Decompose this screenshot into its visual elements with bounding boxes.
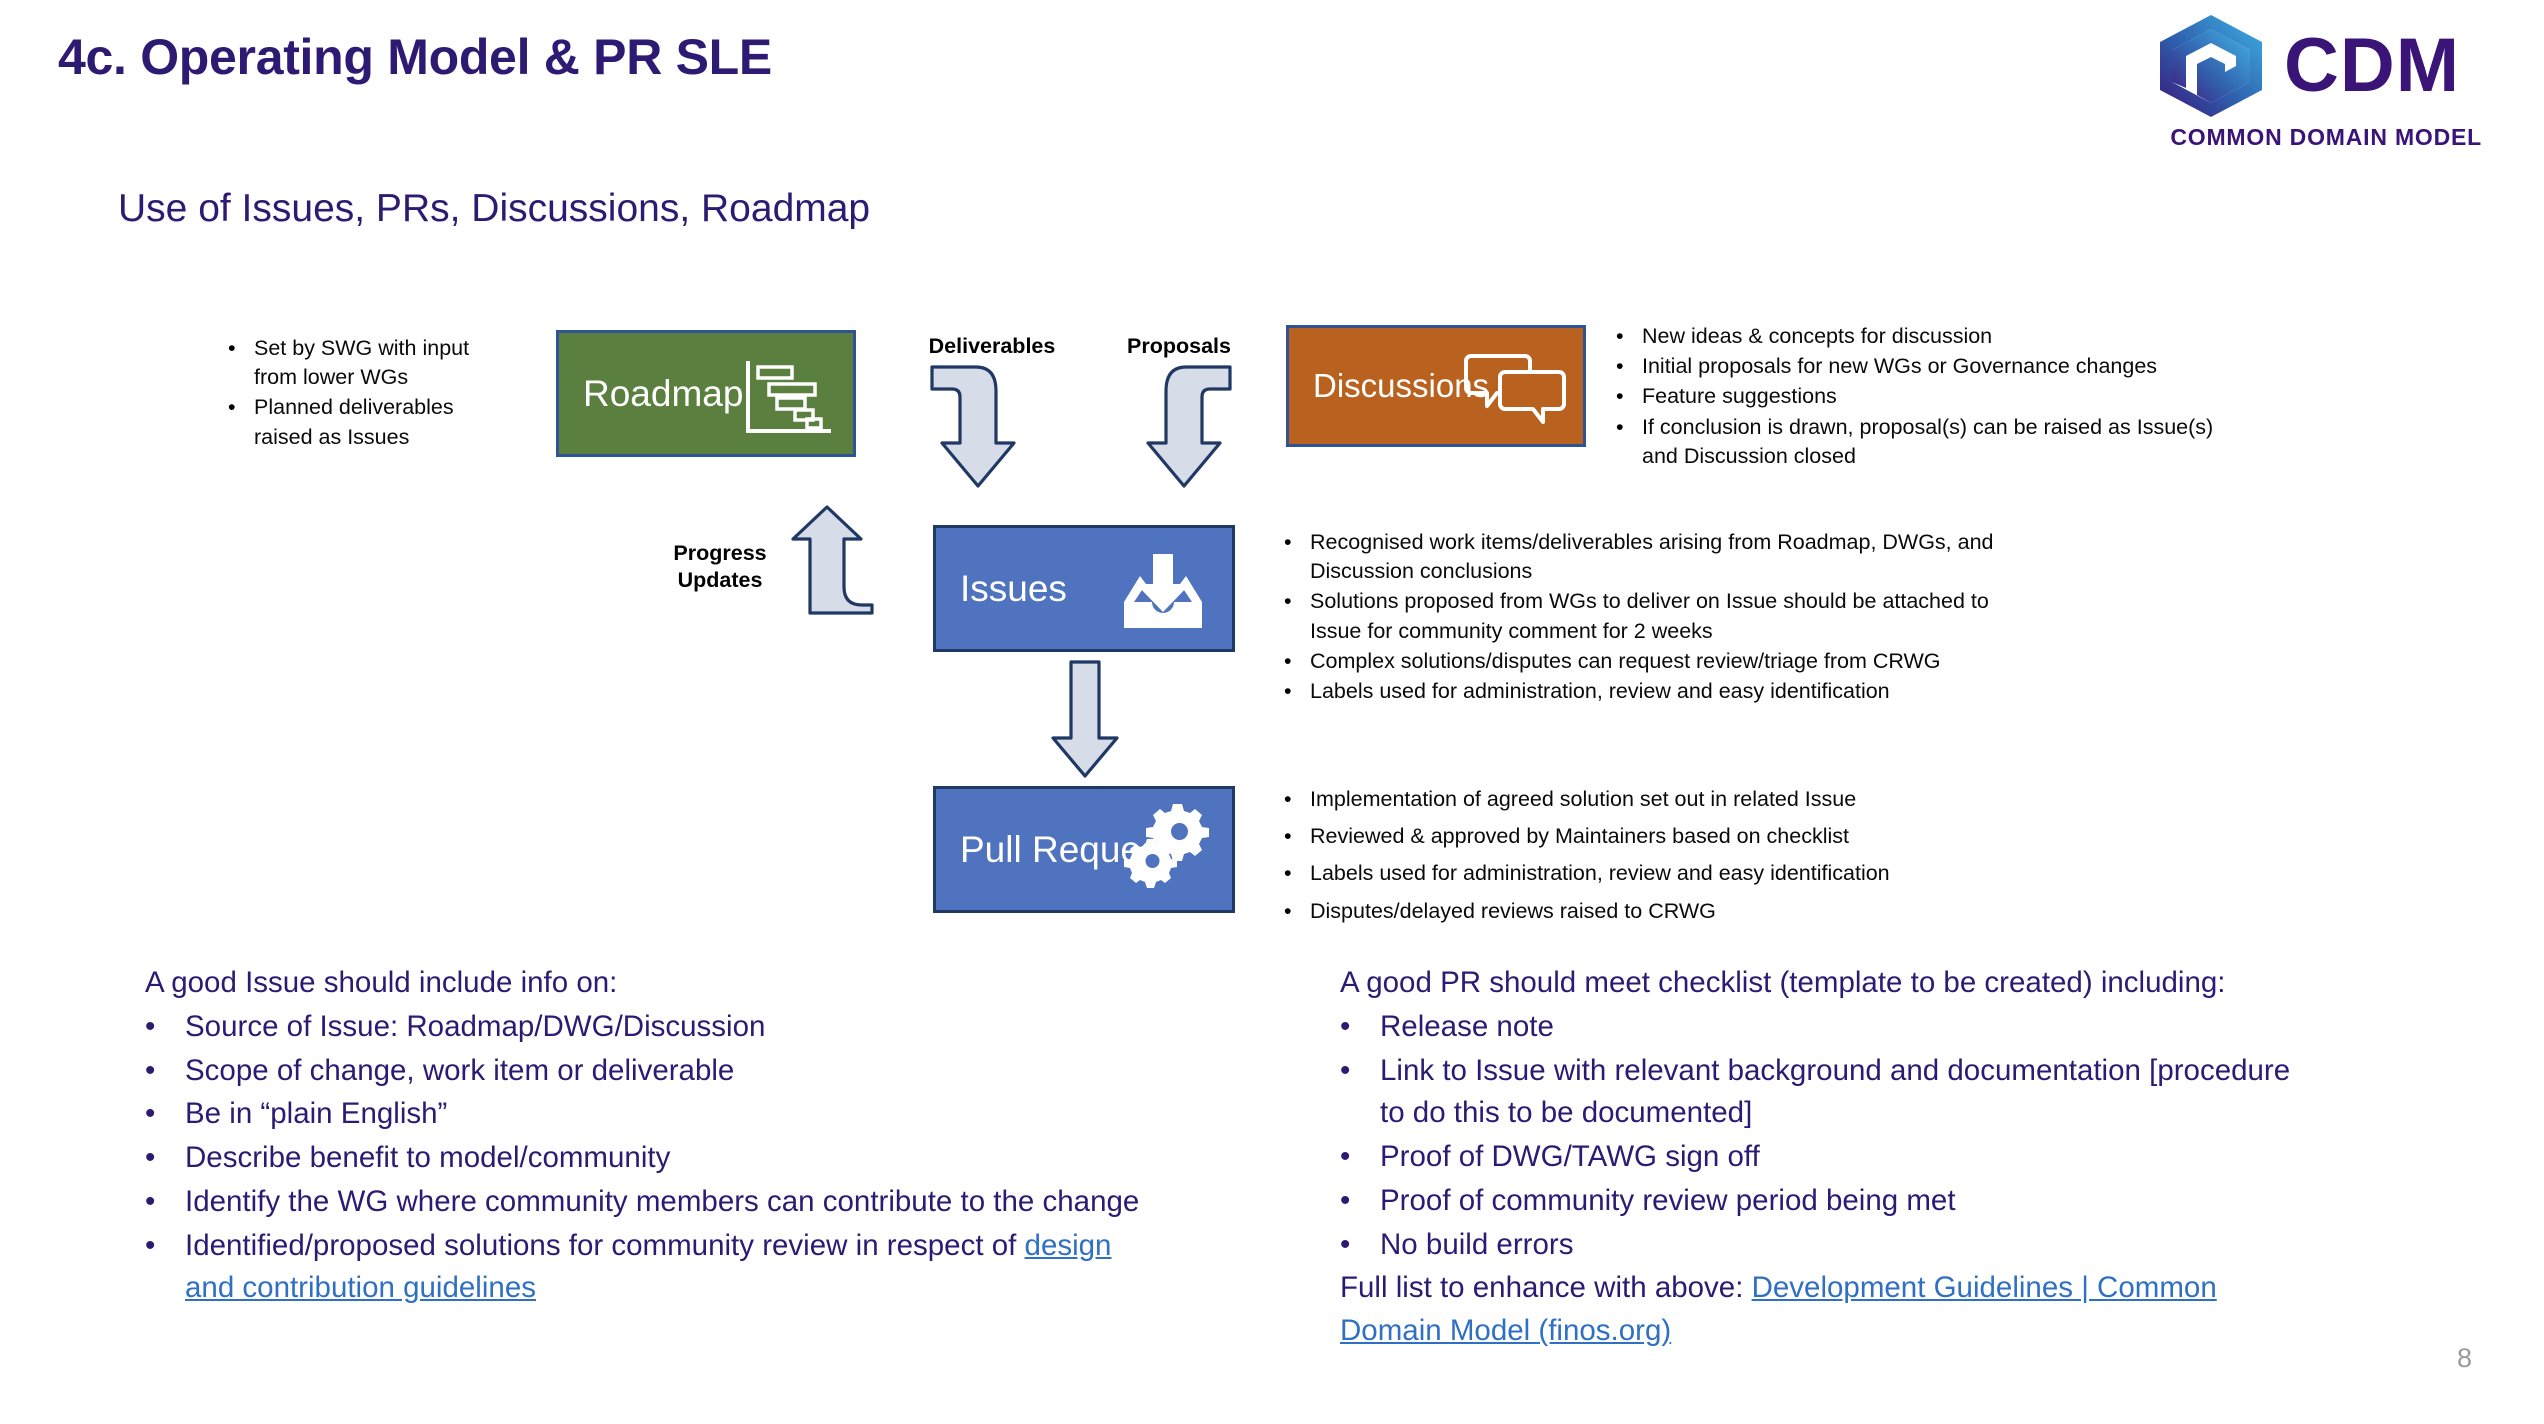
- good-pr-footer-text: Full list to enhance with above:: [1340, 1271, 1752, 1304]
- proposals-arrow-icon: [1134, 365, 1234, 490]
- progress-updates-line1: Progress: [673, 541, 766, 565]
- bullet-dot: •: [1284, 528, 1310, 557]
- bullet-dot: •: [1284, 822, 1310, 851]
- list-item: •Solutions proposed from WGs to deliver …: [1284, 587, 2004, 645]
- discussions-bullets: •New ideas & concepts for discussion •In…: [1616, 322, 2236, 472]
- bullet-dot: •: [145, 1137, 185, 1180]
- bullet-dot: •: [228, 393, 254, 422]
- list-item: •Release note: [1340, 1006, 2300, 1049]
- cdm-tagline: COMMON DOMAIN MODEL: [2152, 124, 2482, 151]
- list-item: •Labels used for administration, review …: [1284, 677, 2004, 706]
- bullet-dot: •: [1340, 1006, 1380, 1049]
- proposals-label: Proposals: [1124, 333, 1234, 360]
- roadmap-box[interactable]: Roadmap: [556, 330, 856, 457]
- list-item: •Be in “plain English”: [145, 1093, 1155, 1136]
- list-item: •Source of Issue: Roadmap/DWG/Discussion: [145, 1006, 1155, 1049]
- list-item: •New ideas & concepts for discussion: [1616, 322, 2236, 351]
- list-item: •Disputes/delayed reviews raised to CRWG: [1284, 897, 2004, 926]
- bullet-dot: •: [1340, 1050, 1380, 1093]
- bullet-dot: •: [1284, 785, 1310, 814]
- page-number: 8: [2457, 1343, 2472, 1374]
- list-item: •Complex solutions/disputes can request …: [1284, 647, 2004, 676]
- progress-updates-line2: Updates: [678, 568, 763, 592]
- bullet-dot: •: [1340, 1224, 1380, 1267]
- cdm-hexagon-logo-icon: [2152, 12, 2270, 120]
- gantt-chart-icon: [743, 359, 835, 439]
- deliverables-label: Deliverables: [927, 333, 1057, 360]
- roadmap-label: Roadmap: [559, 373, 743, 415]
- cdm-wordmark: CDM: [2284, 28, 2460, 104]
- issues-bullets: •Recognised work items/deliverables aris…: [1284, 528, 2004, 707]
- list-item: •Labels used for administration, review …: [1284, 859, 2004, 888]
- list-item: •Initial proposals for new WGs or Govern…: [1616, 352, 2236, 381]
- bullet-dot: •: [1284, 677, 1310, 706]
- good-issue-last-text: Identified/proposed solutions for commun…: [185, 1229, 1025, 1262]
- list-item: •Link to Issue with relevant background …: [1340, 1050, 2300, 1136]
- list-item: •Implementation of agreed solution set o…: [1284, 785, 2004, 814]
- list-item: •Reviewed & approved by Maintainers base…: [1284, 822, 2004, 851]
- list-item: •Planned deliverables raised as Issues: [228, 393, 518, 451]
- issues-label: Issues: [936, 568, 1067, 610]
- list-item: •No build errors: [1340, 1224, 2300, 1267]
- list-item: •Feature suggestions: [1616, 382, 2236, 411]
- list-item: •Identified/proposed solutions for commu…: [145, 1225, 1155, 1311]
- deliverables-arrow-icon: [930, 365, 1030, 490]
- roadmap-bullets: •Set by SWG with input from lower WGs •P…: [228, 334, 518, 453]
- progress-updates-arrow-icon: [775, 505, 885, 615]
- issues-to-pr-arrow-icon: [1045, 660, 1125, 780]
- bullet-dot: •: [145, 1093, 185, 1136]
- list-item: •If conclusion is drawn, proposal(s) can…: [1616, 413, 2236, 471]
- bullet-dot: •: [228, 334, 254, 363]
- bullet-dot: •: [1616, 352, 1642, 381]
- pull-request-box[interactable]: Pull Request: [933, 786, 1235, 913]
- list-item: •Set by SWG with input from lower WGs: [228, 334, 518, 392]
- discussions-label: Discussions: [1289, 367, 1489, 405]
- good-issue-block: A good Issue should include info on: •So…: [145, 962, 1155, 1311]
- slide-canvas: 4c. Operating Model & PR SLE CDM: [0, 0, 2544, 1424]
- good-pr-lead: A good PR should meet checklist (templat…: [1340, 962, 2300, 1005]
- cdm-logo: CDM COMMON DOMAIN MODEL: [2152, 10, 2482, 175]
- good-pr-block: A good PR should meet checklist (templat…: [1340, 962, 2300, 1353]
- list-item: •Proof of DWG/TAWG sign off: [1340, 1136, 2300, 1179]
- bullet-dot: •: [145, 1181, 185, 1224]
- bullet-dot: •: [1284, 587, 1310, 616]
- slide-subtitle: Use of Issues, PRs, Discussions, Roadmap: [118, 187, 870, 231]
- gears-icon: [1126, 809, 1214, 899]
- bullet-dot: •: [1340, 1136, 1380, 1179]
- bullet-dot: •: [1284, 647, 1310, 676]
- list-item: •Recognised work items/deliverables aris…: [1284, 528, 2004, 586]
- bullet-dot: •: [1284, 859, 1310, 888]
- list-item: •Proof of community review period being …: [1340, 1180, 2300, 1223]
- progress-updates-label: Progress Updates: [650, 540, 790, 594]
- good-issue-lead: A good Issue should include info on:: [145, 962, 1155, 1005]
- issues-box[interactable]: Issues: [933, 525, 1235, 652]
- list-item: •Identify the WG where community members…: [145, 1181, 1155, 1224]
- pull-request-bullets: •Implementation of agreed solution set o…: [1284, 785, 2004, 927]
- list-item: •Scope of change, work item or deliverab…: [145, 1050, 1155, 1093]
- page-title: 4c. Operating Model & PR SLE: [58, 28, 772, 86]
- inbox-download-icon: [1120, 550, 1206, 634]
- bullet-dot: •: [145, 1006, 185, 1049]
- speech-bubbles-icon: [1467, 350, 1567, 430]
- list-item: •Describe benefit to model/community: [145, 1137, 1155, 1180]
- bullet-dot: •: [145, 1050, 185, 1093]
- discussions-box[interactable]: Discussions: [1286, 325, 1586, 447]
- bullet-dot: •: [1340, 1180, 1380, 1223]
- good-pr-footer: Full list to enhance with above: Develop…: [1340, 1267, 2300, 1353]
- bullet-dot: •: [1616, 413, 1642, 442]
- bullet-dot: •: [1616, 322, 1642, 351]
- bullet-dot: •: [145, 1225, 185, 1268]
- bullet-dot: •: [1284, 897, 1310, 926]
- bullet-dot: •: [1616, 382, 1642, 411]
